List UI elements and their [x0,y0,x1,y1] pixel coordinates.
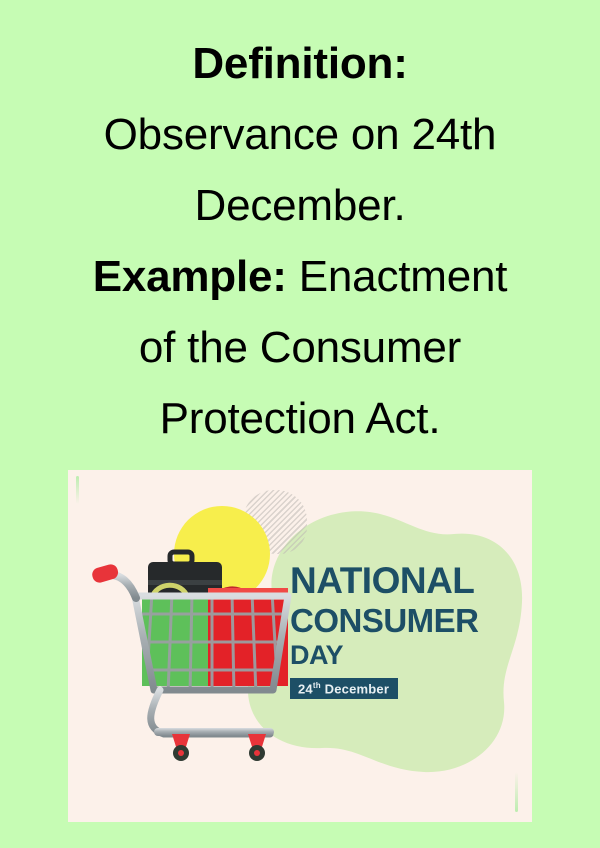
definition-label: Definition: [30,28,570,99]
shopping-cart-icon [90,522,300,772]
logo-line-day: DAY [290,642,520,669]
example-line-2: of the Consumer [30,312,570,383]
slide-root: Definition: Observance on 24th December.… [0,0,600,848]
cart-wheels [172,734,266,761]
example-label: Example: [93,252,287,301]
national-consumer-day-logo: NATIONAL CONSUMER DAY 24th December [290,562,520,699]
slide-text-block: Definition: Observance on 24th December.… [30,0,570,454]
logo-line-consumer: CONSUMER [290,604,520,637]
badge-day: 24 [298,681,313,696]
national-consumer-day-image: NATIONAL CONSUMER DAY 24th December [68,470,532,822]
badge-ordinal: th [313,681,321,690]
definition-line-2: December. [30,170,570,241]
definition-line-1: Observance on 24th [30,99,570,170]
badge-month: December [325,681,389,696]
example-line-1-rest: Enactment [287,252,508,301]
example-line-3: Protection Act. [30,383,570,454]
cart-grip [91,563,120,585]
corner-tick-top-left [76,476,79,504]
logo-line-national: NATIONAL [290,562,520,599]
example-line-1: Example: Enactment [30,241,570,312]
date-badge: 24th December [290,678,398,699]
